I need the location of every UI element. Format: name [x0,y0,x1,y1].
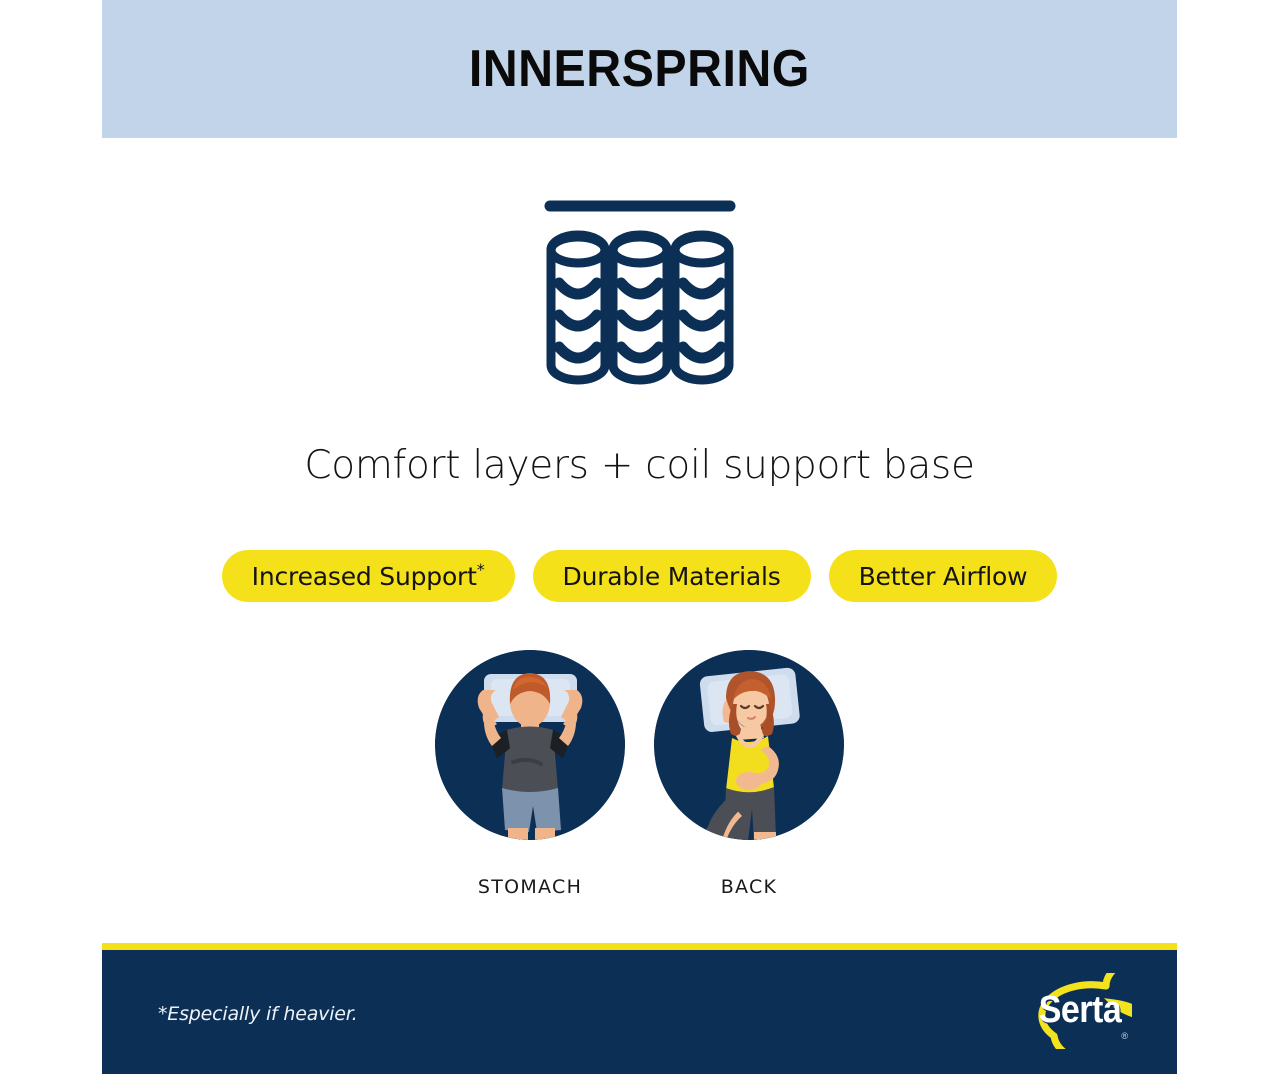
serta-logo[interactable]: Serta ® [1028,973,1132,1049]
badge-label: Durable Materials [563,562,781,591]
sleep-position-stomach: STOMACH [435,650,625,898]
sleep-position-label-back: BACK [654,876,844,898]
coil-springs-icon [540,190,740,395]
sleep-position-back: BACK [654,650,844,898]
serta-wordmark: Serta [1028,967,1132,1052]
footer-accent-rule [102,943,1177,950]
infographic-card: INNERSPRING [102,0,1177,1074]
badge-durable-materials[interactable]: Durable Materials [533,550,811,602]
registered-trademark-icon: ® [1121,1031,1128,1041]
stomach-sleeper-illustration [435,650,625,840]
footer-bar: *Especially if heavier. Serta ® [102,950,1177,1074]
footnote-text: *Especially if heavier. [158,1003,357,1025]
tagline-text: Comfort layers + coil support base [102,443,1177,488]
page-title: INNERSPRING [469,39,810,99]
badge-label: Better Airflow [859,562,1028,591]
badge-better-airflow[interactable]: Better Airflow [829,550,1058,602]
sleep-positions: STOMACH [102,650,1177,898]
back-sleeper-avatar [654,650,844,840]
sleep-position-label-stomach: STOMACH [435,876,625,898]
header-banner: INNERSPRING [102,0,1177,138]
feature-badges: Increased Support* Durable Materials Bet… [102,550,1177,602]
badge-increased-support[interactable]: Increased Support* [222,550,515,602]
badge-label: Increased Support [252,562,477,591]
stomach-sleeper-avatar [435,650,625,840]
back-sleeper-illustration [654,650,844,840]
coil-icon-container [102,190,1177,395]
